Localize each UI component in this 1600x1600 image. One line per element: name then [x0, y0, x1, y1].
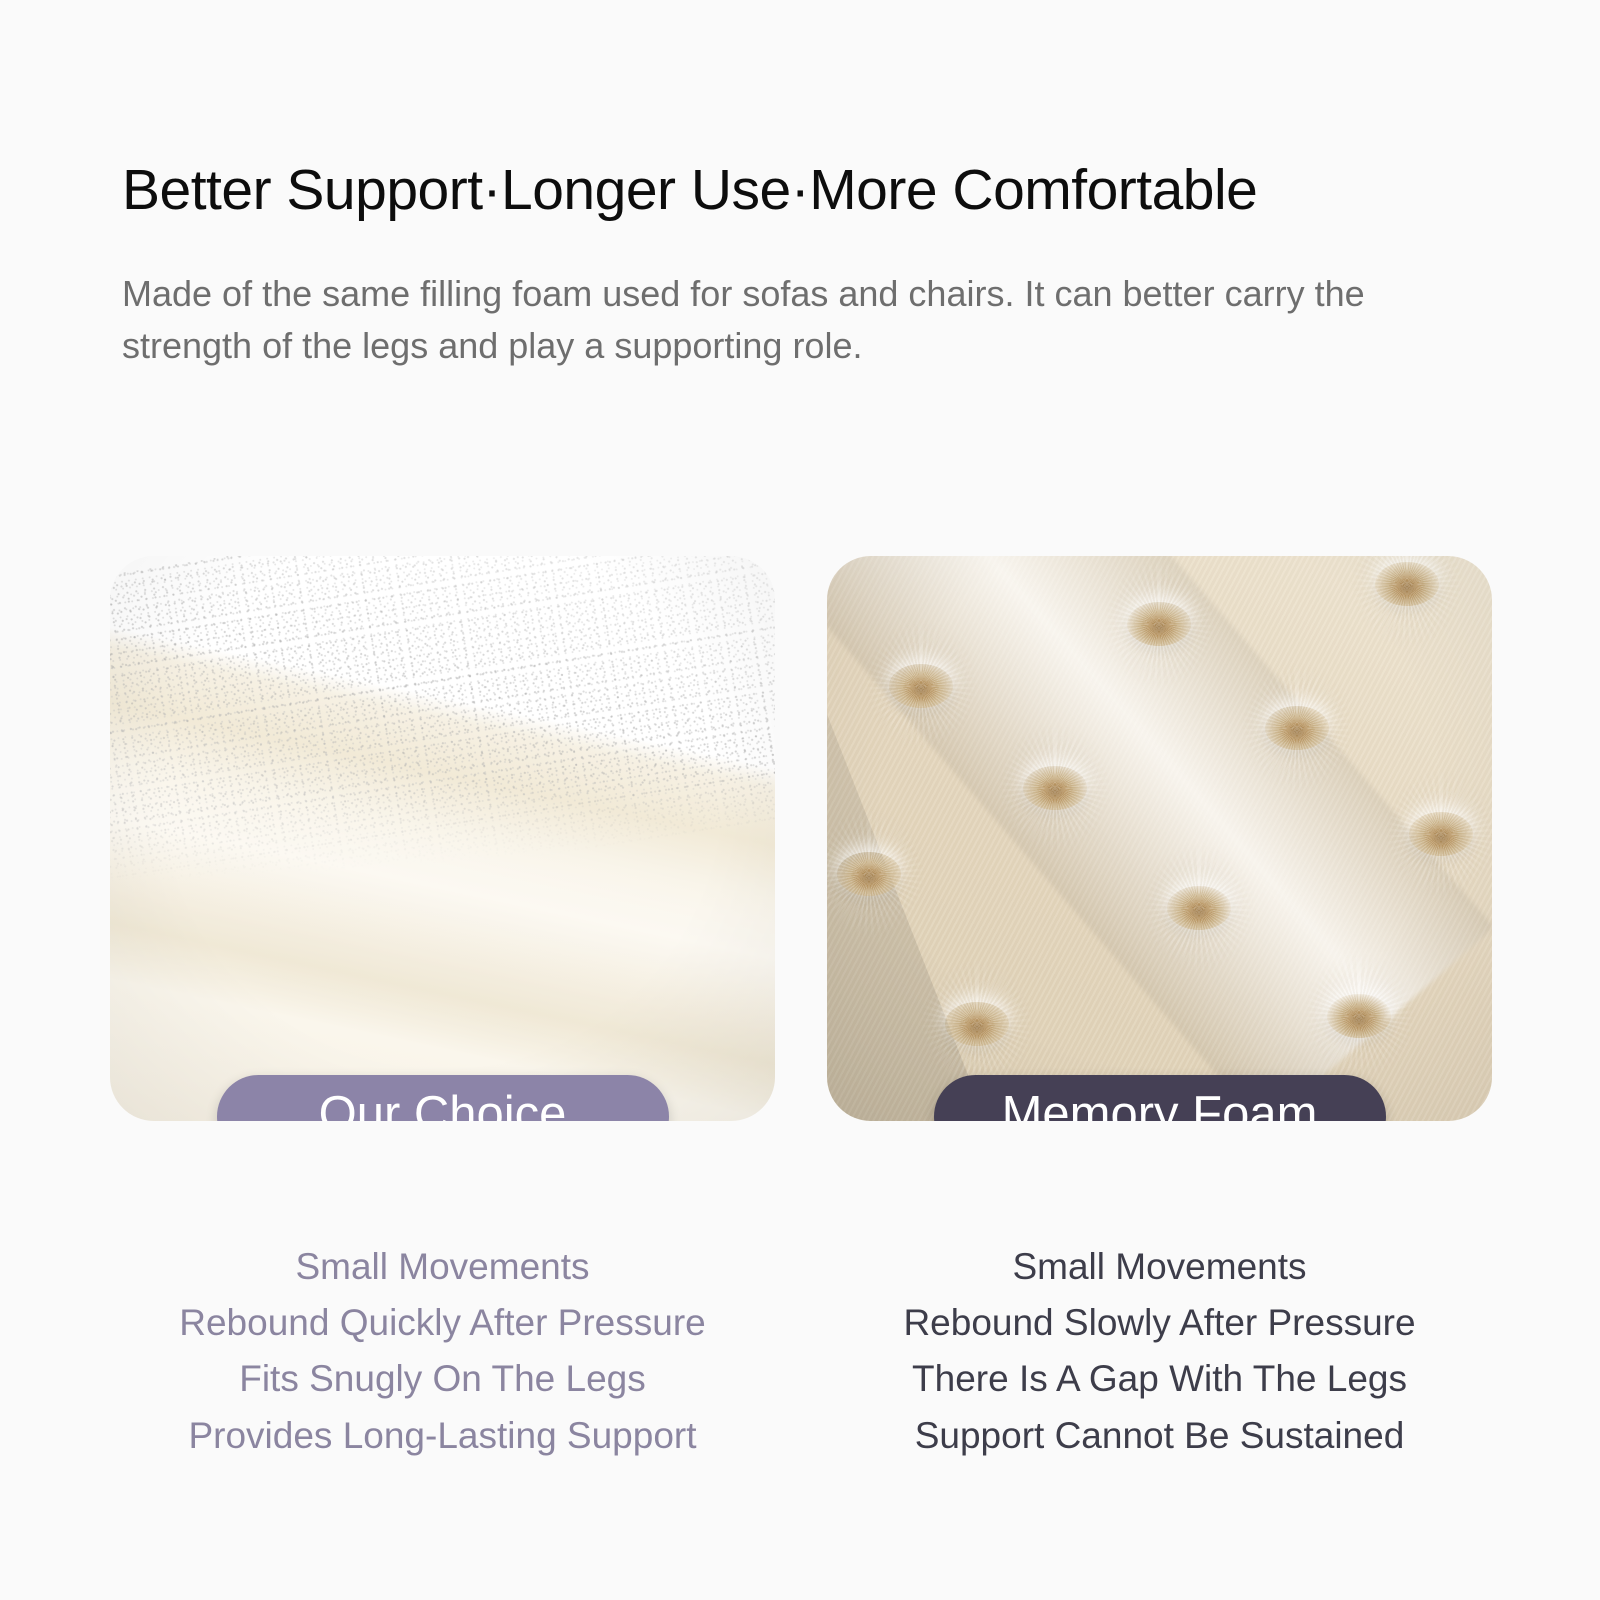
comparison-column-memory-foam: Memory Foam Small Movements Rebound Slow… — [827, 556, 1492, 1464]
memory-foam-photo: Memory Foam — [827, 556, 1492, 1121]
header: Better Support·Longer Use·More Comfortab… — [122, 160, 1482, 372]
page-title: Better Support·Longer Use·More Comfortab… — [122, 160, 1482, 220]
comparison-column-our-choice: Our Choice Small Movements Rebound Quick… — [110, 556, 775, 1464]
feature-list-memory-foam: Small Movements Rebound Slowly After Pre… — [827, 1239, 1492, 1464]
infographic-page: Better Support·Longer Use·More Comfortab… — [0, 0, 1600, 1600]
feature-item: There Is A Gap With The Legs — [827, 1351, 1492, 1407]
badge-our-choice: Our Choice — [217, 1075, 669, 1121]
photo-vignette — [827, 556, 1492, 1121]
feature-item: Rebound Slowly After Pressure — [827, 1295, 1492, 1351]
feature-list-our-choice: Small Movements Rebound Quickly After Pr… — [110, 1239, 775, 1464]
photo-vignette — [110, 556, 775, 1121]
badge-memory-foam: Memory Foam — [934, 1075, 1386, 1121]
comparison-section: Our Choice Small Movements Rebound Quick… — [110, 556, 1492, 1464]
page-subtitle: Made of the same filling foam used for s… — [122, 268, 1472, 372]
feature-item: Provides Long-Lasting Support — [110, 1408, 775, 1464]
our-choice-foam-photo: Our Choice — [110, 556, 775, 1121]
feature-item: Small Movements — [827, 1239, 1492, 1295]
feature-item: Small Movements — [110, 1239, 775, 1295]
feature-item: Rebound Quickly After Pressure — [110, 1295, 775, 1351]
feature-item: Support Cannot Be Sustained — [827, 1408, 1492, 1464]
feature-item: Fits Snugly On The Legs — [110, 1351, 775, 1407]
